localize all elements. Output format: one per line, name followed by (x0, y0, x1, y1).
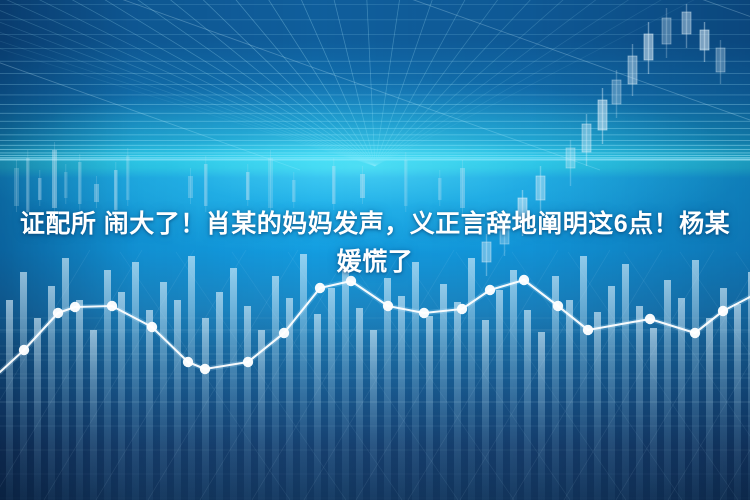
stock-market-banner-image: 证配所 闹大了！肖某的妈妈发声，义正言辞地阐明这6点！杨某媛慌了 (0, 0, 750, 500)
headline-text: 证配所 闹大了！肖某的妈妈发声，义正言辞地阐明这6点！杨某媛慌了 (0, 205, 750, 281)
